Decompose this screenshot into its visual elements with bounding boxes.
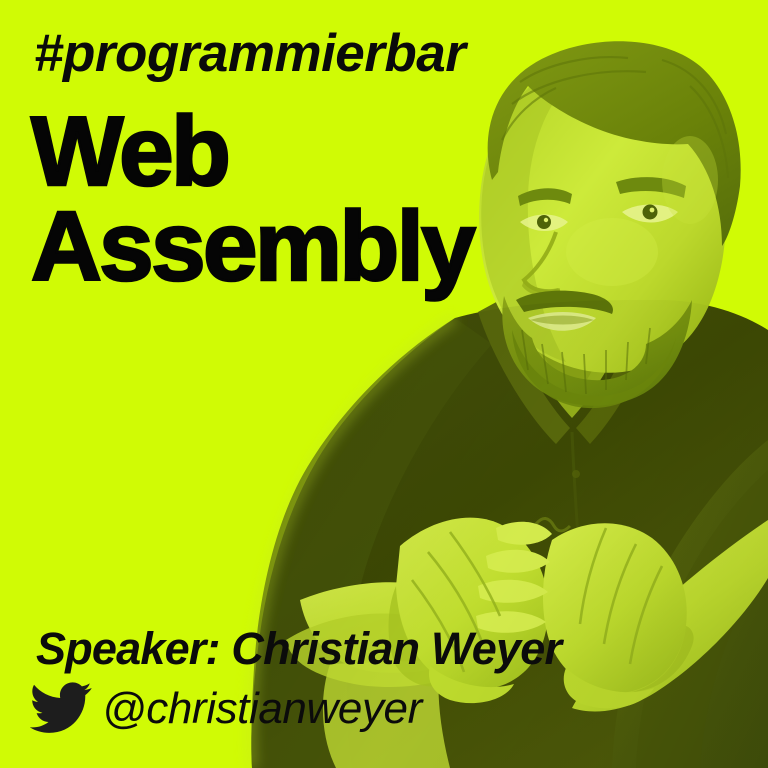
twitter-bird-icon — [30, 682, 92, 734]
cover-text-layer: #programmierbar Web Assembly Speaker: Ch… — [0, 0, 768, 768]
twitter-handle-row: @christianweyer — [30, 682, 422, 734]
podcast-hashtag: #programmierbar — [34, 26, 465, 81]
page-title: Web Assembly — [31, 104, 473, 294]
speaker-label: Speaker: Christian Weyer — [36, 626, 561, 671]
twitter-handle-text: @christianweyer — [102, 687, 422, 731]
podcast-cover-art: #programmierbar Web Assembly Speaker: Ch… — [0, 0, 768, 768]
